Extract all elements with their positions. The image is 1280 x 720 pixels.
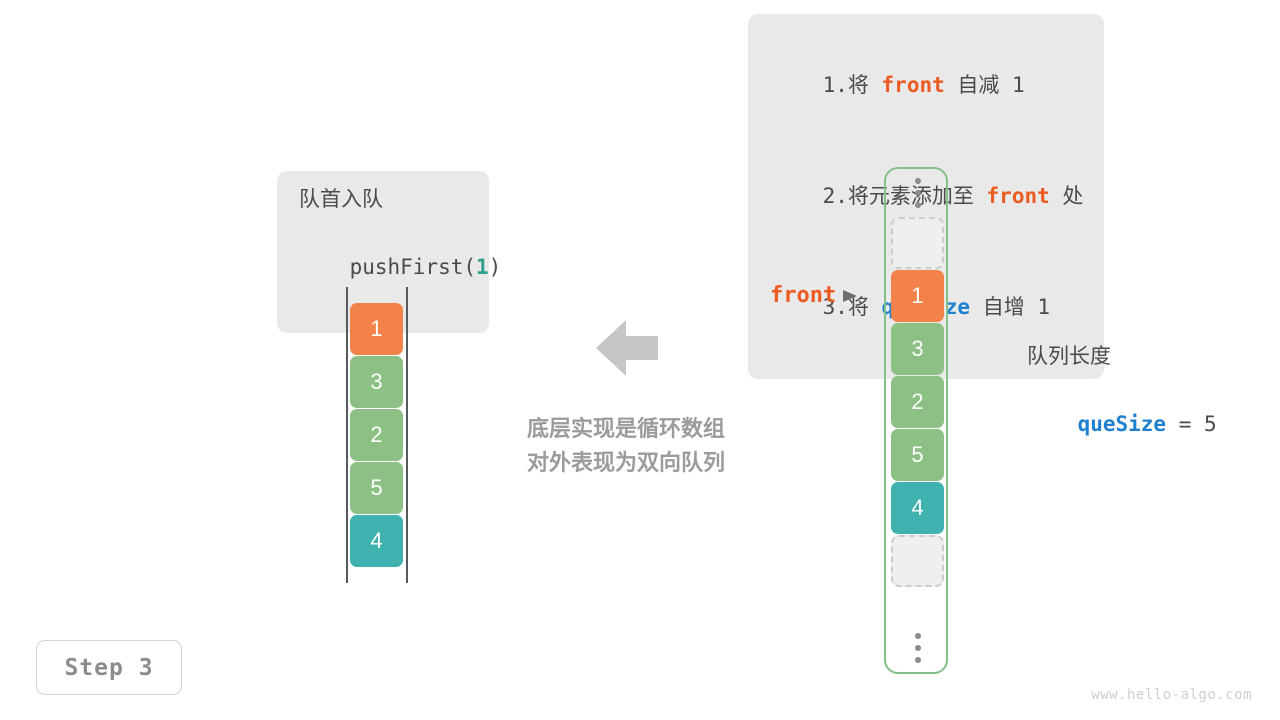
quesize-var-name: queSize — [1078, 412, 1167, 436]
left-arrow-icon — [596, 318, 658, 378]
instruction-index-1: 1. — [823, 73, 848, 97]
operation-call-arg: 1 — [476, 255, 489, 279]
front-pointer-label: front — [770, 283, 836, 308]
deque-bracket-right — [406, 287, 408, 583]
circular-array-slot-filled: 1 — [891, 270, 944, 322]
dot — [915, 645, 921, 651]
dot — [915, 202, 921, 208]
implementation-note-line-1: 底层实现是循环数组 — [501, 412, 751, 446]
vertical-ellipsis-icon — [886, 626, 950, 670]
vertical-ellipsis-icon — [886, 171, 950, 215]
keyword-front: front — [987, 184, 1050, 208]
circular-array-slot-empty — [891, 217, 944, 269]
quesize-expression: queSize = 5 — [1027, 373, 1217, 475]
dot — [915, 657, 921, 663]
circular-array-slot-filled: 2 — [891, 376, 944, 428]
deque-view: 13254 — [346, 287, 408, 583]
step-badge: Step 3 — [36, 640, 182, 695]
deque-cell: 2 — [350, 409, 403, 461]
circular-array-slot-filled: 5 — [891, 429, 944, 481]
operation-call-prefix: pushFirst( — [350, 255, 476, 279]
instruction-text-after-3: 自增 1 — [970, 295, 1050, 319]
instruction-line-1: 1.将 front 自减 1 — [748, 30, 1104, 141]
circular-array-slot-filled: 3 — [891, 323, 944, 375]
quesize-equals: = — [1166, 412, 1204, 436]
dot — [915, 633, 921, 639]
right-triangle-icon — [843, 289, 859, 303]
step-badge-label: Step 3 — [64, 655, 153, 681]
circular-array-view: 13254 — [884, 167, 948, 674]
deque-cell: 4 — [350, 515, 403, 567]
operation-call-suffix: ) — [489, 255, 502, 279]
deque-cell-list: 13254 — [350, 303, 403, 568]
instruction-text-after-2: 处 — [1050, 184, 1084, 208]
dot — [915, 178, 921, 184]
keyword-front: front — [882, 73, 945, 97]
deque-cell: 5 — [350, 462, 403, 514]
deque-cell: 1 — [350, 303, 403, 355]
watermark: www.hello-algo.com — [1091, 687, 1252, 703]
implementation-note: 底层实现是循环数组 对外表现为双向队列 — [501, 412, 751, 480]
circular-array-slot-list: 13254 — [891, 217, 944, 588]
quesize-value: 5 — [1204, 412, 1217, 436]
quesize-info: 队列长度 queSize = 5 — [1027, 341, 1217, 475]
instruction-index-2: 2. — [823, 184, 848, 208]
instruction-text-before-1: 将 — [848, 73, 882, 97]
instruction-text-after-1: 自减 1 — [945, 73, 1025, 97]
front-pointer: front — [770, 283, 859, 308]
circular-array-slot-empty — [891, 535, 944, 587]
deque-cell: 3 — [350, 356, 403, 408]
quesize-title: 队列长度 — [1027, 341, 1217, 373]
implementation-note-line-2: 对外表现为双向队列 — [501, 446, 751, 480]
deque-bracket-left — [346, 287, 348, 583]
operation-title: 队首入队 — [277, 184, 489, 216]
dot — [915, 190, 921, 196]
circular-array-slot-filled: 4 — [891, 482, 944, 534]
